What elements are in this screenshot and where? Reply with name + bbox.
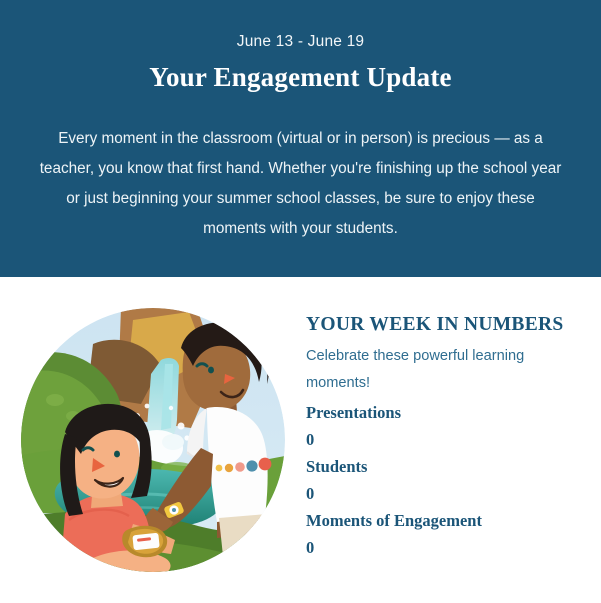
- content-section: YOUR WEEK IN NUMBERS Celebrate these pow…: [0, 277, 601, 603]
- stat-item-students: Students 0: [306, 453, 581, 507]
- stat-label: Moments of Engagement: [306, 507, 581, 534]
- date-range: June 13 - June 19: [38, 32, 563, 52]
- stat-value: 0: [306, 426, 581, 453]
- illustration-column: [0, 277, 306, 572]
- stat-item-presentations: Presentations 0: [306, 399, 581, 453]
- stat-value: 0: [306, 534, 581, 561]
- stat-value: 0: [306, 480, 581, 507]
- hero-body-text: Every moment in the classroom (virtual o…: [38, 124, 563, 244]
- stat-label: Presentations: [306, 399, 581, 426]
- week-in-numbers-column: YOUR WEEK IN NUMBERS Celebrate these pow…: [306, 277, 601, 561]
- waterfall-scene-illustration: [21, 308, 285, 572]
- week-in-numbers-heading: YOUR WEEK IN NUMBERS: [306, 313, 581, 337]
- page-title: Your Engagement Update: [38, 60, 563, 94]
- hero-banner: June 13 - June 19 Your Engagement Update…: [0, 0, 601, 277]
- stat-item-moments-of-engagement: Moments of Engagement 0: [306, 507, 581, 561]
- engagement-update-email: June 13 - June 19 Your Engagement Update…: [0, 0, 601, 603]
- week-in-numbers-subtitle: Celebrate these powerful learning moment…: [306, 343, 546, 397]
- stat-label: Students: [306, 453, 581, 480]
- illustration-circle: [21, 308, 285, 572]
